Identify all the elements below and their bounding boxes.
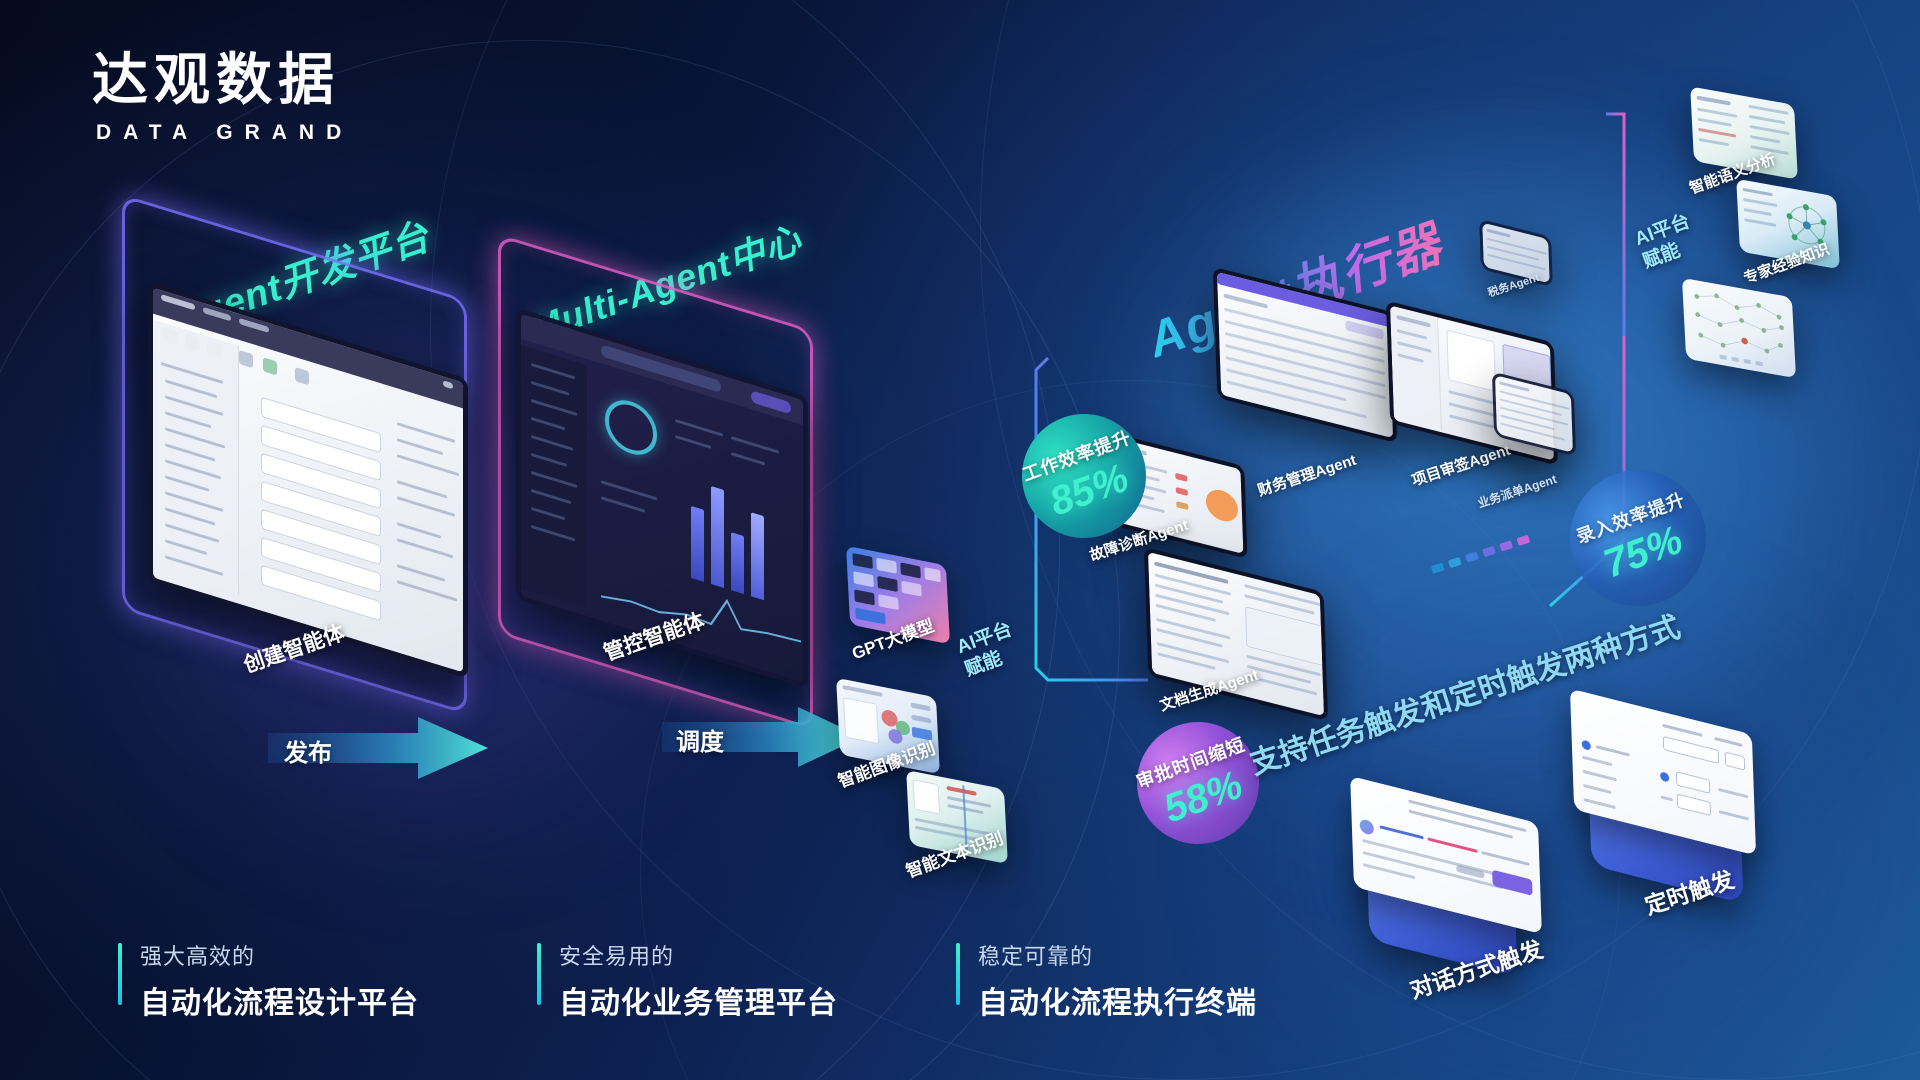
agent-label-approval: 项目审签Agent <box>1409 439 1513 491</box>
bottom-captions: 强大高效的 自动化流程设计平台 安全易用的 自动化业务管理平台 稳定可靠的 自动… <box>118 939 1257 1022</box>
ai-platform-label-center: AI平台 赋能 <box>954 618 1024 683</box>
brand-name-cn: 达观数据 <box>92 52 353 111</box>
ai-platform-label-right: AI平台 赋能 <box>1632 210 1702 275</box>
agent-label-dispatch: 业务派单Agent <box>1475 470 1558 512</box>
caption-design-small: 强大高效的 <box>140 939 419 971</box>
caption-tick <box>956 943 960 1005</box>
dev-platform-subtitle: 创建智能体 <box>239 617 348 680</box>
executor-dot-progress <box>1431 535 1530 574</box>
brand-name-en: DATA GRAND <box>92 121 353 145</box>
caption-management-large: 自动化业务管理平台 <box>559 978 838 1022</box>
caption-design-large: 自动化流程设计平台 <box>140 978 419 1022</box>
caption-tick <box>537 943 541 1005</box>
flow-arrow-publish-label: 发布 <box>284 733 332 768</box>
infographic-canvas: 达观数据 DATA GRAND Agent开发平台 <box>0 0 1920 1080</box>
stat-badge-entry-efficiency: 录入效率提升 75% <box>1551 451 1725 625</box>
flow-arrow-dispatch: 调度 <box>662 705 862 769</box>
stat-badge-approval-time: 审批时间缩短 58% <box>1120 705 1276 861</box>
caption-execution-terminal: 稳定可靠的 自动化流程执行终端 <box>956 939 1257 1022</box>
caption-tick <box>118 943 122 1005</box>
caption-execution-large: 自动化流程执行终端 <box>978 978 1257 1022</box>
agent-label-finance: 财务管理Agent <box>1255 449 1359 501</box>
caption-design-platform: 强大高效的 自动化流程设计平台 <box>118 939 419 1022</box>
caption-management-small: 安全易用的 <box>559 939 838 971</box>
flow-arrow-publish: 发布 <box>268 715 488 781</box>
caption-management-platform: 安全易用的 自动化业务管理平台 <box>537 939 838 1022</box>
brand-logo: 达观数据 DATA GRAND <box>92 52 353 145</box>
flow-arrow-dispatch-label: 调度 <box>676 722 724 757</box>
dev-platform-monitor <box>148 281 468 679</box>
ai-card-knowledge-graph <box>1682 278 1796 378</box>
caption-execution-small: 稳定可靠的 <box>978 939 1257 971</box>
